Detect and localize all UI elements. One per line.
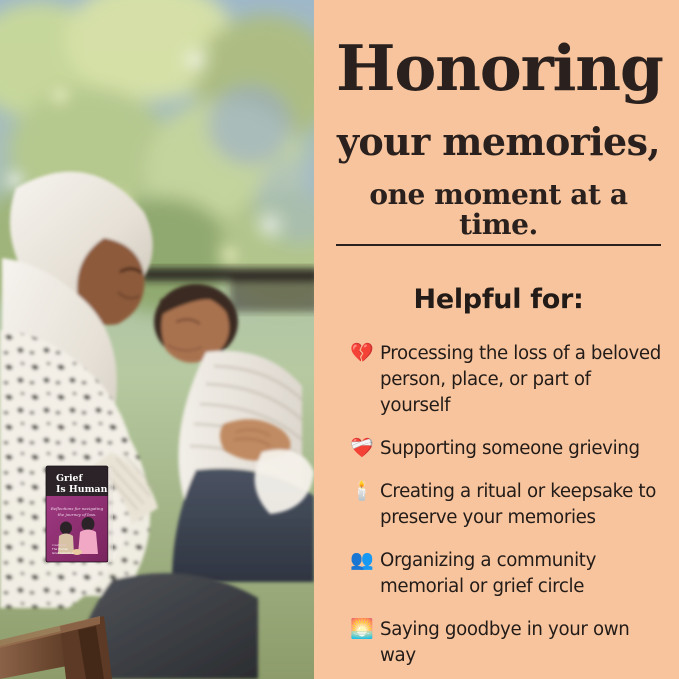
list-item-label: Processing the loss of a beloved person,… xyxy=(380,341,661,419)
list-item-label: Creating a ritual or keepsake to preserv… xyxy=(380,479,661,531)
list-item: 👥 Organizing a community memorial or gri… xyxy=(350,548,661,600)
list-item-label: Supporting someone grieving xyxy=(380,436,640,462)
svg-text:Grief Collective: Grief Collective xyxy=(52,551,74,555)
book-box: Grief Is Human Reflections for navigatin… xyxy=(46,466,113,562)
headline-line-1: Honoring xyxy=(336,38,661,100)
headline-line-3-wrapper: one moment at a time. xyxy=(336,180,661,247)
sunrise-icon: 🌅 xyxy=(350,617,380,643)
lifestyle-photo: Grief Is Human Reflections for navigatin… xyxy=(0,0,314,679)
mending-heart-icon: ❤️‍🩹 xyxy=(350,436,380,462)
list-item: 🌅 Saying goodbye in your own way xyxy=(350,617,661,669)
photo-illustration: Grief Is Human Reflections for navigatin… xyxy=(0,0,314,679)
list-item: 💔 Processing the loss of a beloved perso… xyxy=(350,341,661,419)
list-item: 🕯️ Creating a ritual or keepsake to pres… xyxy=(350,479,661,531)
text-panel: Honoring your memories, one moment at a … xyxy=(314,0,679,679)
list-item-label: Saying goodbye in your own way xyxy=(380,617,661,669)
book-title-line1: Grief xyxy=(56,473,83,484)
book-subtitle-line1: Reflections for navigating xyxy=(50,506,104,511)
list-item-label: Organizing a community memorial or grief… xyxy=(380,548,661,600)
people-silhouette-icon: 👥 xyxy=(350,548,380,574)
list-item: ❤️‍🩹 Supporting someone grieving xyxy=(350,436,661,462)
benefits-list: 💔 Processing the loss of a beloved perso… xyxy=(336,341,661,679)
headline-block: Honoring your memories, one moment at a … xyxy=(336,0,661,246)
helpful-for-heading: Helpful for: xyxy=(336,284,661,315)
headline-line-2: your memories, xyxy=(336,122,661,162)
book-subtitle-line2: the journey of loss. xyxy=(58,512,97,517)
book-title-line2: Is Human xyxy=(56,484,108,495)
headline-line-3: one moment at a time. xyxy=(336,180,661,247)
promotional-image: Grief Is Human Reflections for navigatin… xyxy=(0,0,679,679)
broken-heart-icon: 💔 xyxy=(350,341,380,367)
candle-icon: 🕯️ xyxy=(350,479,380,505)
